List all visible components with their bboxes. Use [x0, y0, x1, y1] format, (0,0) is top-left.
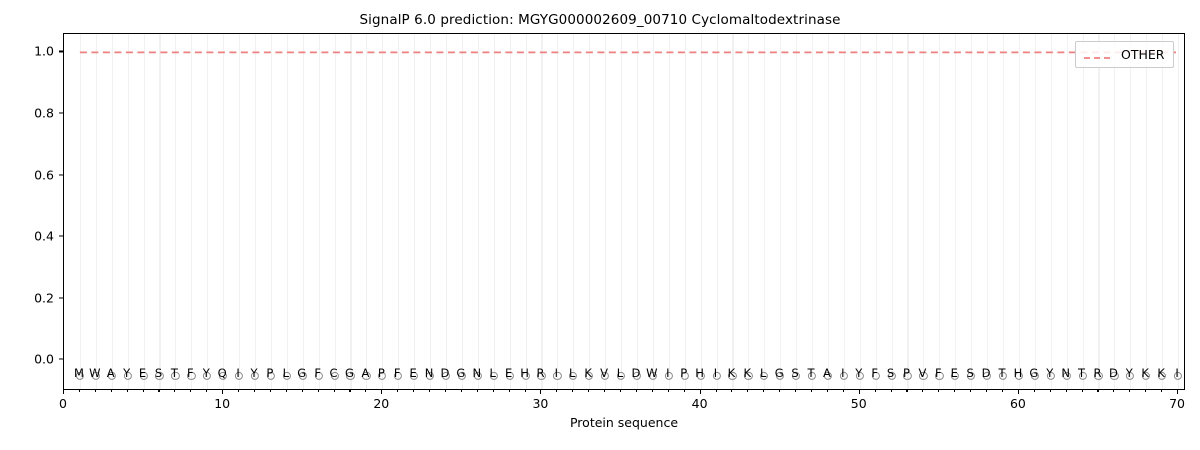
x-tick-minor: [763, 390, 764, 392]
x-tick-mark: [1018, 390, 1019, 394]
x-tick-minor: [349, 390, 350, 392]
x-tick-label: 50: [851, 396, 867, 411]
x-tick-mark: [381, 390, 382, 394]
residue-letter: R: [1093, 366, 1101, 380]
x-tick-minor: [429, 390, 430, 392]
residue-letter: D: [982, 366, 991, 380]
residue-letter: T: [807, 366, 814, 380]
residue-letter: Y: [1126, 366, 1133, 380]
residue-letter: I: [236, 366, 239, 380]
residue-letter: I: [666, 366, 669, 380]
x-tick-minor: [1034, 390, 1035, 392]
residue-letter: P: [266, 366, 273, 380]
residue-letter: E: [139, 366, 146, 380]
x-tick-label: 40: [692, 396, 708, 411]
x-tick-minor: [668, 390, 669, 392]
residue-letter: S: [155, 366, 162, 380]
x-tick-minor: [111, 390, 112, 392]
residue-letter: Y: [203, 366, 210, 380]
residue-letter: C: [330, 366, 338, 380]
x-tick-mark: [222, 390, 223, 394]
x-tick-minor: [461, 390, 462, 392]
x-tick-mark: [700, 390, 701, 394]
chart-title: SignalP 6.0 prediction: MGYG000002609_00…: [0, 12, 1200, 28]
x-axis-label: Protein sequence: [63, 415, 1185, 430]
residue-letter: M: [74, 366, 84, 380]
residue-letter: D: [631, 366, 640, 380]
x-tick-minor: [174, 390, 175, 392]
residue-letter: H: [695, 366, 704, 380]
residue-letter: A: [823, 366, 831, 380]
x-tick-minor: [270, 390, 271, 392]
x-tick-mark: [1177, 390, 1178, 394]
y-tick-label: 0.8: [34, 106, 54, 121]
residue-letter: D: [441, 366, 450, 380]
residue-letter: H: [1014, 366, 1023, 380]
residue-letter: F: [187, 366, 194, 380]
residue-letter: K: [1157, 366, 1165, 380]
residue-letter: E: [505, 366, 512, 380]
residue-letter: V: [918, 366, 926, 380]
x-tick-mark: [63, 390, 64, 394]
x-tick-mark: [859, 390, 860, 394]
x-tick-minor: [588, 390, 589, 392]
residue-letter: V: [600, 366, 608, 380]
x-tick-minor: [891, 390, 892, 392]
residue-letter: T: [1078, 366, 1085, 380]
x-tick-minor: [397, 390, 398, 392]
x-tick-label: 0: [59, 396, 67, 411]
x-tick-minor: [1050, 390, 1051, 392]
x-tick-minor: [954, 390, 955, 392]
y-tick-label: 0.0: [34, 352, 54, 367]
x-tick-minor: [938, 390, 939, 392]
residue-letter: L: [760, 366, 766, 380]
x-tick-minor: [843, 390, 844, 392]
residue-letter: R: [536, 366, 544, 380]
x-tick-minor: [445, 390, 446, 392]
residue-letter: G: [297, 366, 306, 380]
x-tick-label: 10: [214, 396, 230, 411]
x-tick-minor: [206, 390, 207, 392]
x-tick-minor: [811, 390, 812, 392]
y-axis: 0.00.20.40.60.81.0: [0, 33, 63, 390]
x-tick-minor: [875, 390, 876, 392]
x-tick-minor: [477, 390, 478, 392]
x-tick-label: 20: [373, 396, 389, 411]
residue-letter: Y: [855, 366, 862, 380]
x-tick-minor: [684, 390, 685, 392]
x-tick-minor: [1145, 390, 1146, 392]
residue-letter: I: [841, 366, 844, 380]
residue-letter: K: [1141, 366, 1149, 380]
residue-letter: I: [555, 366, 558, 380]
residue-letter: W: [89, 366, 100, 380]
residue-letter: K: [728, 366, 736, 380]
x-tick-minor: [986, 390, 987, 392]
x-tick-minor: [922, 390, 923, 392]
x-tick-minor: [493, 390, 494, 392]
residue-letter: A: [107, 366, 115, 380]
x-tick-minor: [127, 390, 128, 392]
x-tick-minor: [604, 390, 605, 392]
x-tick-minor: [1129, 390, 1130, 392]
plot-area: [63, 33, 1185, 390]
x-tick-minor: [525, 390, 526, 392]
residue-letter: G: [1029, 366, 1038, 380]
x-tick-minor: [334, 390, 335, 392]
residue-letter: L: [489, 366, 495, 380]
x-tick-label: 70: [1169, 396, 1185, 411]
residue-sequence-row: MWAYESTFYQIYPLGFCGAPFENDGNLEHRILKVLDWIPH…: [63, 366, 1185, 384]
y-tick-label: 1.0: [34, 44, 54, 59]
x-tick-label: 30: [532, 396, 548, 411]
residue-letter: T: [171, 366, 178, 380]
x-tick-minor: [1161, 390, 1162, 392]
legend: OTHER: [1075, 41, 1174, 68]
x-tick-minor: [795, 390, 796, 392]
x-tick-minor: [158, 390, 159, 392]
residue-letter: P: [903, 366, 910, 380]
x-tick-minor: [79, 390, 80, 392]
x-tick-minor: [1113, 390, 1114, 392]
x-tick-minor: [302, 390, 303, 392]
x-tick-minor: [238, 390, 239, 392]
x-tick-minor: [95, 390, 96, 392]
residue-marker-row: [64, 34, 1184, 389]
residue-letter: H: [520, 366, 529, 380]
residue-letter: P: [680, 366, 687, 380]
residue-letter: K: [584, 366, 592, 380]
residue-letter: E: [951, 366, 958, 380]
residue-letter: A: [361, 366, 369, 380]
residue-letter: S: [966, 366, 973, 380]
x-tick-minor: [636, 390, 637, 392]
residue-letter: W: [646, 366, 657, 380]
residue-letter: K: [744, 366, 752, 380]
x-tick-minor: [572, 390, 573, 392]
residue-letter: I: [1175, 366, 1178, 380]
residue-letter: T: [998, 366, 1005, 380]
x-tick-minor: [779, 390, 780, 392]
x-tick-minor: [318, 390, 319, 392]
residue-letter: Y: [1046, 366, 1053, 380]
residue-letter: P: [378, 366, 385, 380]
x-tick-minor: [652, 390, 653, 392]
x-tick-minor: [254, 390, 255, 392]
residue-letter: L: [569, 366, 575, 380]
residue-letter: E: [409, 366, 416, 380]
residue-letter: G: [345, 366, 354, 380]
x-tick-minor: [190, 390, 191, 392]
residue-letter: S: [887, 366, 894, 380]
x-tick-minor: [556, 390, 557, 392]
residue-letter: F: [935, 366, 942, 380]
x-tick-minor: [1082, 390, 1083, 392]
x-tick-minor: [286, 390, 287, 392]
x-tick-minor: [970, 390, 971, 392]
x-tick-minor: [827, 390, 828, 392]
residue-letter: F: [394, 366, 401, 380]
residue-letter: L: [617, 366, 623, 380]
x-tick-minor: [620, 390, 621, 392]
residue-letter: N: [472, 366, 481, 380]
signalp-prediction-figure: SignalP 6.0 prediction: MGYG000002609_00…: [0, 0, 1200, 450]
x-tick-minor: [1066, 390, 1067, 392]
x-tick-minor: [143, 390, 144, 392]
residue-letter: D: [1109, 366, 1118, 380]
residue-letter: Y: [250, 366, 257, 380]
x-tick-minor: [1002, 390, 1003, 392]
x-tick-minor: [365, 390, 366, 392]
residue-letter: S: [791, 366, 798, 380]
residue-letter: F: [871, 366, 878, 380]
y-tick-label: 0.2: [34, 290, 54, 305]
x-tick-minor: [747, 390, 748, 392]
x-tick-minor: [1097, 390, 1098, 392]
residue-letter: N: [425, 366, 434, 380]
x-tick-minor: [716, 390, 717, 392]
residue-letter: I: [714, 366, 717, 380]
x-tick-minor: [906, 390, 907, 392]
residue-letter: N: [1061, 366, 1070, 380]
x-tick-minor: [509, 390, 510, 392]
residue-letter: G: [456, 366, 465, 380]
x-tick-minor: [413, 390, 414, 392]
residue-letter: G: [775, 366, 784, 380]
legend-swatch-other: [1084, 49, 1114, 61]
residue-letter: F: [314, 366, 321, 380]
y-tick-label: 0.4: [34, 229, 54, 244]
residue-letter: L: [283, 366, 289, 380]
x-tick-minor: [731, 390, 732, 392]
residue-letter: Y: [123, 366, 130, 380]
x-tick-label: 60: [1010, 396, 1026, 411]
residue-letter: Q: [218, 366, 227, 380]
x-tick-mark: [540, 390, 541, 394]
legend-label-other: OTHER: [1121, 47, 1164, 62]
y-tick-label: 0.6: [34, 167, 54, 182]
